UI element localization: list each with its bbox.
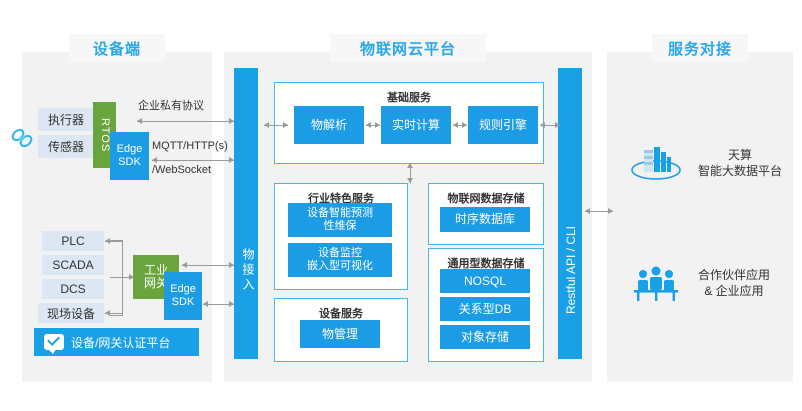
- base-arrow-2: [453, 125, 467, 126]
- auth-platform-label: 设备/网关认证平台: [71, 334, 170, 351]
- access-bar: 物接入: [234, 68, 258, 359]
- protocol-mid-label: MQTT/HTTP(s): [152, 140, 228, 152]
- base-arrow-right: [540, 125, 560, 126]
- service-item-partners[interactable]: 合作伙伴应用 & 企业应用: [630, 258, 790, 308]
- device-panel-title: 设备端: [69, 34, 165, 62]
- industry-item-0-label: 设备智能预测 性维保: [307, 207, 373, 233]
- base-arrow-1: [366, 125, 380, 126]
- partners-line1: 合作伙伴应用: [698, 267, 770, 283]
- industry-service-item-1[interactable]: 设备监控 嵌入型可视化: [288, 243, 392, 277]
- protocol-top-arrow: [137, 121, 234, 122]
- access-bar-label: 物接入: [240, 248, 257, 293]
- industry-item-1-label: 设备监控 嵌入型可视化: [307, 247, 373, 273]
- base-service-item-0[interactable]: 物解析: [294, 106, 364, 144]
- iot-storage-item-0[interactable]: 时序数据库: [440, 207, 530, 232]
- base-arrow-left: [264, 125, 288, 126]
- device-item-plc: PLC: [42, 231, 104, 251]
- base-service-item-2[interactable]: 规则引擎: [468, 106, 538, 144]
- field-device-arrow: [105, 313, 123, 314]
- edge-sdk-top-label: Edge SDK: [117, 143, 143, 169]
- protocol-mid-arrow: [152, 160, 234, 161]
- plc-arrow: [105, 241, 123, 242]
- edge-sdk-bottom-label: Edge SDK: [170, 283, 196, 309]
- api-bar: Restful API / CLI: [558, 68, 582, 359]
- auth-platform-bar[interactable]: 设备/网关认证平台: [34, 328, 199, 356]
- general-storage-item-2[interactable]: 对象存储: [440, 325, 530, 349]
- service-panel: [607, 52, 793, 382]
- industry-service-item-0[interactable]: 设备智能预测 性维保: [288, 203, 392, 237]
- iot-storage-label: 物联网数据存储: [429, 190, 543, 206]
- device-sensor: 传感器: [38, 135, 94, 158]
- device-item-field: 现场设备: [38, 303, 104, 323]
- device-item-dcs: DCS: [42, 279, 104, 299]
- base-to-lower-arrow: [410, 163, 411, 183]
- device-actuator: 执行器: [38, 108, 94, 131]
- device-list-bracket: [110, 240, 123, 316]
- edge-sdk-top: Edge SDK: [110, 132, 149, 180]
- gateway-access-arrow-1: [182, 265, 234, 266]
- chain-icon: [8, 124, 36, 152]
- device-service-item-0[interactable]: 物管理: [300, 320, 380, 348]
- general-storage-item-1[interactable]: 关系型DB: [440, 297, 530, 321]
- partners-line2: & 企业应用: [698, 283, 770, 299]
- base-service-item-1[interactable]: 实时计算: [381, 106, 451, 144]
- service-item-bigdata[interactable]: 天算 智能大数据平台: [630, 138, 790, 188]
- bigdata-line1: 天算: [698, 147, 782, 163]
- edge-sdk-bottom: Edge SDK: [164, 272, 202, 320]
- device-item-scada: SCADA: [42, 255, 104, 275]
- check-icon: [44, 334, 64, 350]
- api-bar-label: Restful API / CLI: [564, 226, 578, 314]
- protocol-mid2-label: /WebSocket: [152, 164, 211, 176]
- protocol-top-label: 企业私有协议: [138, 97, 204, 113]
- bigdata-icon: [630, 142, 682, 184]
- device-service-label: 设备服务: [275, 305, 407, 321]
- platform-service-arrow: [585, 211, 613, 212]
- gateway-in-arrow: [110, 277, 134, 278]
- gateway-access-arrow-2: [203, 304, 234, 305]
- service-panel-title: 服务对接: [652, 34, 748, 62]
- general-storage-item-0[interactable]: NOSQL: [440, 269, 530, 293]
- partners-icon: [630, 263, 682, 303]
- platform-panel-title: 物联网云平台: [330, 34, 486, 62]
- base-service-label: 基础服务: [275, 89, 543, 105]
- bigdata-line2: 智能大数据平台: [698, 163, 782, 179]
